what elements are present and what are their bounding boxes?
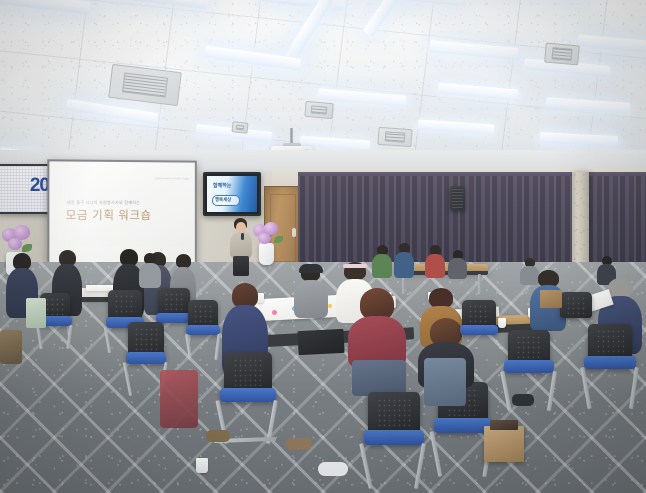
- participant: [448, 250, 467, 278]
- coffee-cup: [498, 318, 506, 328]
- hydrangea-bloom: [258, 233, 271, 244]
- cap-icon: [299, 264, 323, 273]
- ceiling-air-vent: [544, 43, 580, 66]
- participant-overalls: [352, 360, 406, 396]
- patterned-cloth: [160, 370, 198, 428]
- participant-hair: [429, 288, 453, 308]
- sticker-dot: [328, 304, 332, 308]
- participant: [372, 245, 392, 277]
- participant: [425, 245, 445, 277]
- ceiling-air-vent: [304, 101, 333, 119]
- participant-top: [394, 252, 414, 278]
- presenter: [228, 218, 254, 274]
- left-led-banner: 20: [0, 164, 52, 214]
- participant: [294, 264, 328, 316]
- participant-top: [448, 258, 467, 279]
- ceiling-air-vent: [377, 127, 412, 147]
- paper-bag-contents: [490, 420, 518, 430]
- shoe: [512, 394, 534, 406]
- ceiling-air-vent: [231, 121, 248, 134]
- participant-top: [425, 254, 445, 278]
- participant-top: [372, 254, 392, 278]
- wall-speaker: [450, 186, 465, 210]
- flower-vase: [259, 243, 274, 265]
- paper-bag: [484, 426, 524, 462]
- participant-top: [139, 263, 161, 288]
- monitor-pill-text: 행복세상: [215, 197, 231, 203]
- backpack: [297, 329, 344, 355]
- sticker-dot: [272, 310, 277, 315]
- participant: [139, 253, 161, 287]
- workshop-room-photo: 20 community-center-logo 대전 중구 시니어 자원봉사자…: [0, 0, 646, 493]
- monitor-line1: 함께하는: [213, 184, 231, 190]
- participant-top: [294, 280, 328, 318]
- participant-vest: [424, 358, 466, 406]
- left-banner-text: 20: [30, 175, 49, 197]
- shoe: [286, 438, 312, 450]
- shoe: [206, 430, 230, 442]
- participant: [348, 288, 406, 394]
- coffee-cup: [196, 458, 208, 473]
- hydrangea-bloom: [8, 238, 22, 250]
- monitor-screen: [207, 176, 257, 212]
- tote-bag: [26, 298, 46, 328]
- headband: [343, 264, 367, 268]
- participant-hair: [176, 254, 191, 268]
- microphone-icon: [241, 233, 244, 240]
- shoe: [318, 462, 348, 476]
- presenter-skirt: [233, 256, 249, 276]
- participant-hair: [608, 278, 633, 298]
- table-leg: [478, 274, 481, 294]
- slide-logo: community-center-logo: [155, 176, 189, 180]
- shopping-bag: [540, 290, 562, 308]
- right-led-monitor: 함께하는 행복세상: [203, 172, 261, 216]
- participant: [394, 243, 414, 277]
- floor-bag: [0, 330, 22, 364]
- door-handle[interactable]: [292, 228, 296, 237]
